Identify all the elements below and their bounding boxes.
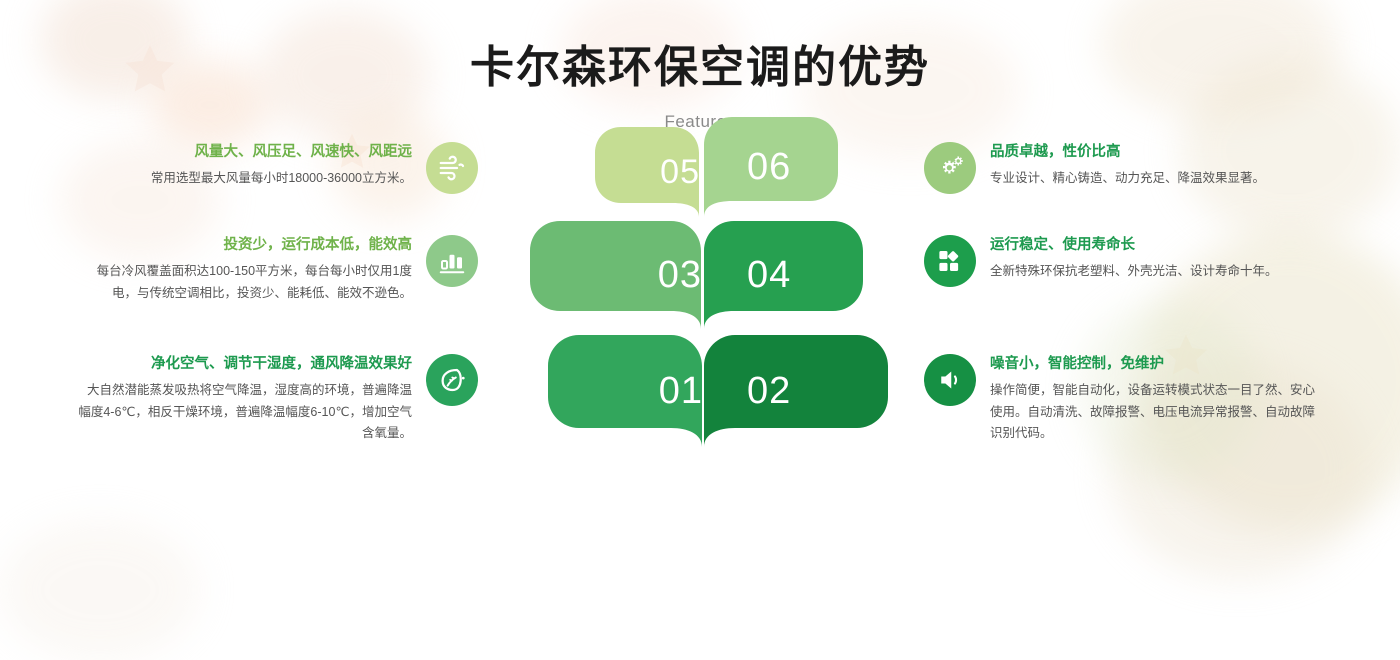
feature-desc-01: 大自然潜能蒸发吸热将空气降温，湿度高的环境，普遍降温幅度4-6℃，相反干燥环境，… <box>78 380 412 446</box>
petal-04[interactable]: 04 <box>703 221 907 329</box>
page-title: 卡尔森环保空调的优势 <box>0 44 1400 92</box>
petal-label-02: 02 <box>747 370 791 413</box>
feature-text-03: 投资少，运行成本低，能效高 每台冷风覆盖面积达100-150平方米，每台每小时仅… <box>78 235 412 304</box>
petal-label-05: 05 <box>660 153 700 192</box>
gears-icon <box>924 142 976 194</box>
feature-item-05[interactable]: 风量大、风压足、风速快、风距远 常用选型最大风量每小时18000-36000立方… <box>78 142 478 194</box>
petal-label-04: 04 <box>747 254 791 297</box>
feature-heading-01: 净化空气、调节干湿度，通风降温效果好 <box>78 354 412 374</box>
feature-item-01[interactable]: 净化空气、调节干湿度，通风降温效果好 大自然潜能蒸发吸热将空气降温，湿度高的环境… <box>78 354 478 445</box>
feature-heading-05: 风量大、风压足、风速快、风距远 <box>78 142 412 162</box>
leaf-cluster: 05 06 03 04 01 <box>520 127 880 547</box>
feature-text-05: 风量大、风压足、风速快、风距远 常用选型最大风量每小时18000-36000立方… <box>78 142 412 189</box>
feature-heading-04: 运行稳定、使用寿命长 <box>990 235 1324 255</box>
wind-icon <box>426 142 478 194</box>
feature-item-02[interactable]: 噪音小，智能控制，免维护 操作简便，智能自动化，设备运转模式状态一目了然、安心使… <box>924 354 1324 445</box>
feature-text-01: 净化空气、调节干湿度，通风降温效果好 大自然潜能蒸发吸热将空气降温，湿度高的环境… <box>78 354 412 445</box>
feature-item-03[interactable]: 投资少，运行成本低，能效高 每台冷风覆盖面积达100-150平方米，每台每小时仅… <box>78 235 478 304</box>
header: 卡尔森环保空调的优势 Features <box>0 0 1400 132</box>
feature-text-06: 品质卓越，性价比高 专业设计、精心铸造、动力充足、降温效果显著。 <box>990 142 1324 189</box>
petal-label-01: 01 <box>659 370 703 413</box>
bar-chart-icon <box>426 235 478 287</box>
feature-desc-05: 常用选型最大风量每小时18000-36000立方米。 <box>78 168 412 190</box>
feature-desc-02: 操作简便，智能自动化，设备运转模式状态一目了然、安心使用。自动清洗、故障报警、电… <box>990 380 1324 446</box>
petal-01[interactable]: 01 <box>548 335 729 447</box>
feature-desc-03: 每台冷风覆盖面积达100-150平方米，每台每小时仅用1度电，与传统空调相比，投… <box>78 261 412 305</box>
features-section: 风量大、风压足、风速快、风距远 常用选型最大风量每小时18000-36000立方… <box>0 132 1400 552</box>
petal-02[interactable]: 02 <box>703 335 932 447</box>
feature-text-04: 运行稳定、使用寿命长 全新特殊环保抗老塑料、外壳光洁、设计寿命十年。 <box>990 235 1324 282</box>
feature-item-04[interactable]: 运行稳定、使用寿命长 全新特殊环保抗老塑料、外壳光洁、设计寿命十年。 <box>924 235 1324 287</box>
feature-text-02: 噪音小，智能控制，免维护 操作简便，智能自动化，设备运转模式状态一目了然、安心使… <box>990 354 1324 445</box>
feature-heading-06: 品质卓越，性价比高 <box>990 142 1324 162</box>
petal-03[interactable]: 03 <box>530 221 728 329</box>
petal-06[interactable]: 06 <box>703 117 882 217</box>
petal-label-03: 03 <box>658 254 702 297</box>
feature-item-06[interactable]: 品质卓越，性价比高 专业设计、精心铸造、动力充足、降温效果显著。 <box>924 142 1324 194</box>
blocks-icon <box>924 235 976 287</box>
feature-desc-04: 全新特殊环保抗老塑料、外壳光洁、设计寿命十年。 <box>990 261 1324 283</box>
petal-label-06: 06 <box>747 146 791 189</box>
feature-desc-06: 专业设计、精心铸造、动力充足、降温效果显著。 <box>990 168 1324 190</box>
leaf-icon <box>426 354 478 406</box>
feature-heading-02: 噪音小，智能控制，免维护 <box>990 354 1324 374</box>
feature-heading-03: 投资少，运行成本低，能效高 <box>78 235 412 255</box>
